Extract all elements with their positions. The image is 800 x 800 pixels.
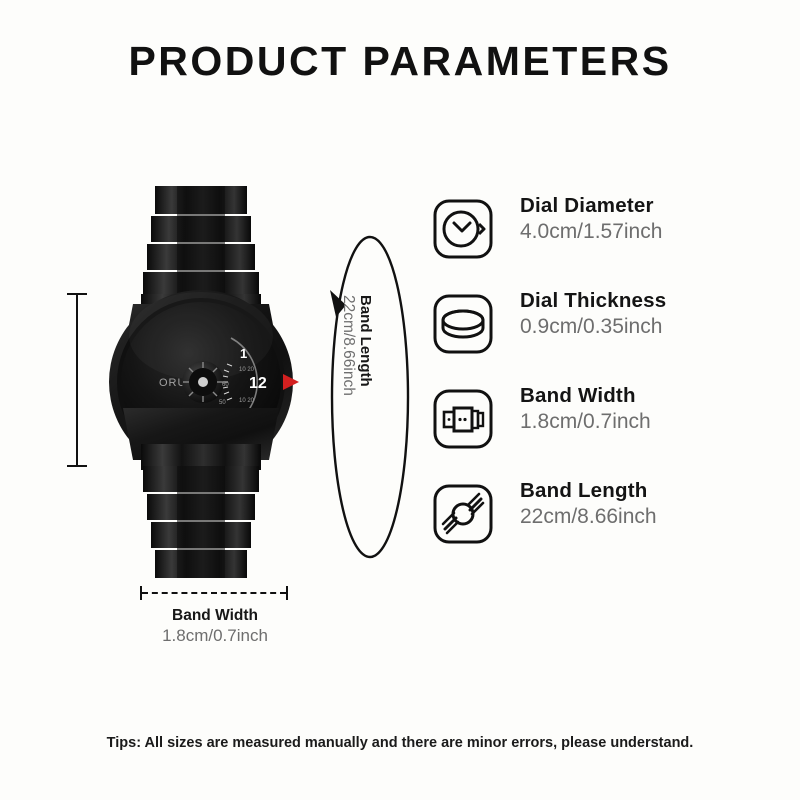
spec-value: 0.9cm/0.35inch — [520, 315, 666, 339]
product-parameters-page: PRODUCT PARAMETERS — [0, 0, 800, 800]
band-width-callout-label: Band Width 1.8cm/0.7inch — [90, 606, 340, 647]
svg-text:10 20: 10 20 — [239, 398, 255, 404]
band-length-loop-ellipse — [332, 237, 408, 557]
spec-list: Dial Diameter 4.0cm/1.57inch Dial Thickn… — [432, 196, 762, 576]
band-width-callout-title: Band Width — [90, 606, 340, 625]
svg-text:10 20: 10 20 — [239, 367, 255, 373]
watch-band-width-icon — [432, 388, 494, 450]
spec-value: 1.8cm/0.7inch — [520, 410, 651, 434]
spec-row-dial-thickness: Dial Thickness 0.9cm/0.35inch — [432, 291, 762, 386]
watch-subdial — [182, 361, 224, 403]
page-title: PRODUCT PARAMETERS — [0, 38, 800, 85]
watch-dial-icon — [432, 198, 494, 260]
watch-thickness-icon — [432, 293, 494, 355]
tips-note: Tips: All sizes are measured manually an… — [0, 735, 800, 751]
band-width-callout-value: 1.8cm/0.7inch — [90, 625, 340, 646]
spec-row-band-width: Band Width 1.8cm/0.7inch — [432, 386, 762, 481]
dial-diameter-dimension-line — [58, 293, 94, 467]
band-length-callout-title: Band Length — [357, 295, 374, 396]
watch-band-lower — [141, 444, 261, 578]
watch-product-image: ORUSS 1 12 11 — [103, 186, 299, 578]
dimension-dashed-line — [142, 592, 286, 594]
spec-value: 22cm/8.66inch — [520, 505, 657, 529]
svg-text:50: 50 — [219, 400, 226, 406]
spec-value: 4.0cm/1.57inch — [520, 220, 662, 244]
dimension-shaft — [76, 293, 78, 467]
spec-title: Dial Thickness — [520, 289, 666, 313]
spec-row-dial-diameter: Dial Diameter 4.0cm/1.57inch — [432, 196, 762, 291]
dimension-cap-right — [286, 586, 288, 600]
spec-title: Band Width — [520, 384, 651, 408]
spec-row-band-length: Band Length 22cm/8.66inch — [432, 481, 762, 576]
band-length-loop: Band Length 22cm/8.66inch — [322, 233, 418, 561]
dimension-cap-bottom — [67, 465, 87, 467]
band-width-dimension-line — [140, 586, 288, 600]
watch-band-length-icon — [432, 483, 494, 545]
dial-numeral-12: 12 — [249, 375, 267, 392]
spec-title: Dial Diameter — [520, 194, 662, 218]
band-length-callout-value: 22cm/8.66inch — [339, 295, 357, 396]
band-length-callout-label: Band Length 22cm/8.66inch — [339, 295, 374, 396]
dial-numeral-1: 1 — [240, 346, 247, 361]
spec-title: Band Length — [520, 479, 657, 503]
